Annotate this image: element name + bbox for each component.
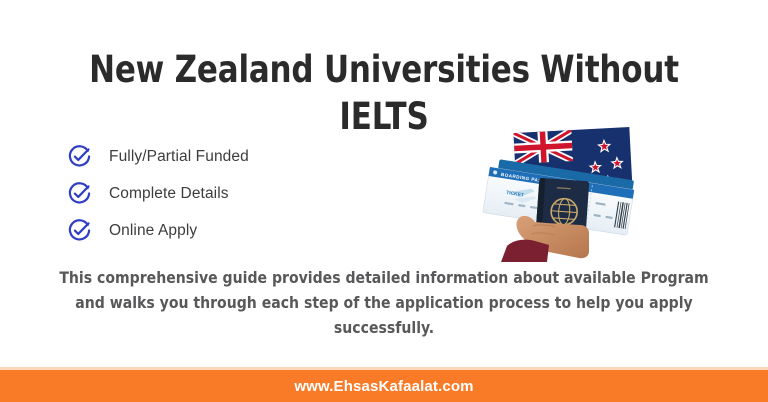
list-item: Complete Details: [68, 175, 368, 212]
list-item: Online Apply: [68, 212, 368, 249]
list-item-label: Online Apply: [109, 222, 197, 240]
feature-list: Fully/Partial Funded Complete Details On…: [68, 138, 368, 249]
sleeve: [501, 240, 549, 262]
list-item-label: Complete Details: [109, 185, 229, 203]
circle-check-icon: [68, 182, 91, 205]
poster-canvas: New Zealand Universities Without IELTS F…: [0, 0, 768, 402]
list-item-label: Fully/Partial Funded: [109, 148, 249, 166]
description-text: This comprehensive guide provides detail…: [50, 266, 718, 340]
footer-bar: www.EhsasKafaalat.com: [0, 370, 768, 402]
list-item: Fully/Partial Funded: [68, 138, 368, 175]
circle-check-icon: [68, 145, 91, 168]
circle-check-icon: [68, 219, 91, 242]
website-url[interactable]: www.EhsasKafaalat.com: [294, 378, 473, 395]
hero-photo: BOARDING PASS TICKET: [477, 122, 653, 262]
